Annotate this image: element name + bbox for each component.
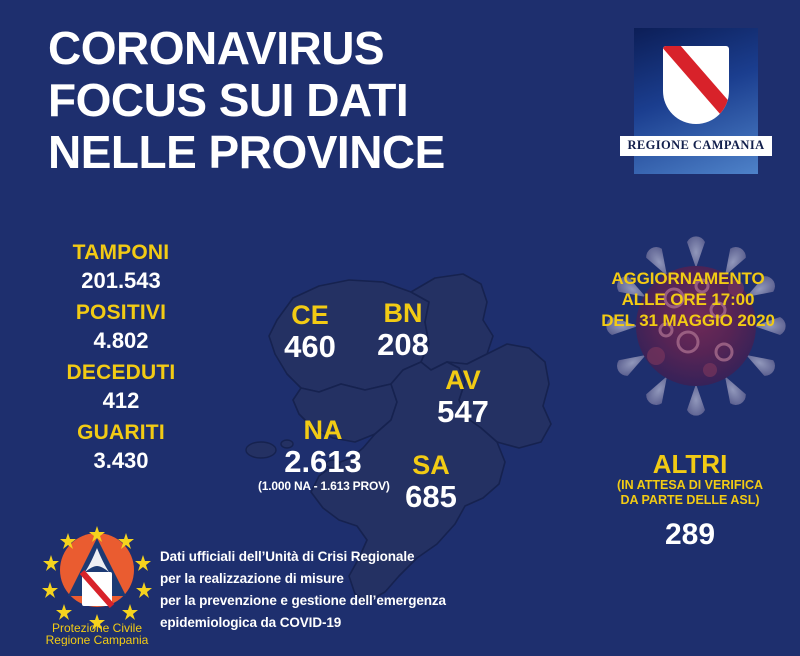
footer-text: Dati ufficiali dell’Unità di Crisi Regio… [160,546,590,634]
stat-value-deceduti: 412 [46,386,196,416]
province-code-av: AV [415,365,511,395]
update-line-2: ALLE ORE 17:00 [576,289,800,310]
stat-label-positivi: POSITIVI [46,300,196,326]
stat-value-positivi: 4.802 [46,326,196,356]
title-line-1: CORONAVIRUS [48,22,588,74]
footer-line-4: epidemiologica da COVID-19 [160,612,590,634]
province-value-sa: 685 [383,480,479,514]
province-code-bn: BN [355,298,451,328]
other-cases-block: ALTRI (IN ATTESA DI VERIFICA DA PARTE DE… [590,450,790,552]
update-timestamp: AGGIORNAMENTO ALLE ORE 17:00 DEL 31 MAGG… [576,268,800,331]
title-line-3: NELLE PROVINCE [48,126,588,178]
stat-label-tamponi: TAMPONI [46,240,196,266]
protezione-civile-logo: Protezione Civile Regione Campania [38,524,156,646]
footer-line-2: per la realizzazione di misure [160,568,590,590]
stat-value-tamponi: 201.543 [46,266,196,296]
other-sub-line-1: (IN ATTESA DI VERIFICA [590,478,790,493]
province-value-av: 547 [415,395,511,429]
page-title: CORONAVIRUS FOCUS SUI DATI NELLE PROVINC… [48,22,588,178]
province-value-na: 2.613 [258,445,388,479]
stat-label-deceduti: DECEDUTI [46,360,196,386]
province-av: AV 547 [415,365,511,429]
regione-campania-logo: REGIONE CAMPANIA [620,28,772,180]
province-code-na: NA [258,415,388,445]
province-ce: CE 460 [262,300,358,364]
pc-logo-line-2: Regione Campania [46,633,149,646]
campania-shield-icon [663,46,729,124]
province-bn: BN 208 [355,298,451,362]
footer-line-1: Dati ufficiali dell’Unità di Crisi Regio… [160,546,590,568]
update-line-1: AGGIORNAMENTO [576,268,800,289]
stat-value-guariti: 3.430 [46,446,196,476]
province-value-bn: 208 [355,328,451,362]
title-line-2: FOCUS SUI DATI [48,74,588,126]
regione-campania-label: REGIONE CAMPANIA [620,136,772,156]
province-sa: SA 685 [383,450,479,514]
stat-label-guariti: GUARITI [46,420,196,446]
other-sub-line-2: DA PARTE DELLE ASL) [590,493,790,508]
footer-line-3: per la prevenzione e gestione dell’emerg… [160,590,590,612]
province-na: NA 2.613 (1.000 NA - 1.613 PROV) [258,415,388,494]
province-value-ce: 460 [262,330,358,364]
shield-red-band [663,46,729,124]
other-value: 289 [590,518,790,552]
province-code-sa: SA [383,450,479,480]
update-line-3: DEL 31 MAGGIO 2020 [576,310,800,331]
statistics-panel: TAMPONI 201.543 POSITIVI 4.802 DECEDUTI … [46,240,196,480]
province-sub-na: (1.000 NA - 1.613 PROV) [258,479,388,494]
province-code-ce: CE [262,300,358,330]
infographic-poster: CORONAVIRUS FOCUS SUI DATI NELLE PROVINC… [0,0,800,656]
other-label: ALTRI [590,450,790,478]
